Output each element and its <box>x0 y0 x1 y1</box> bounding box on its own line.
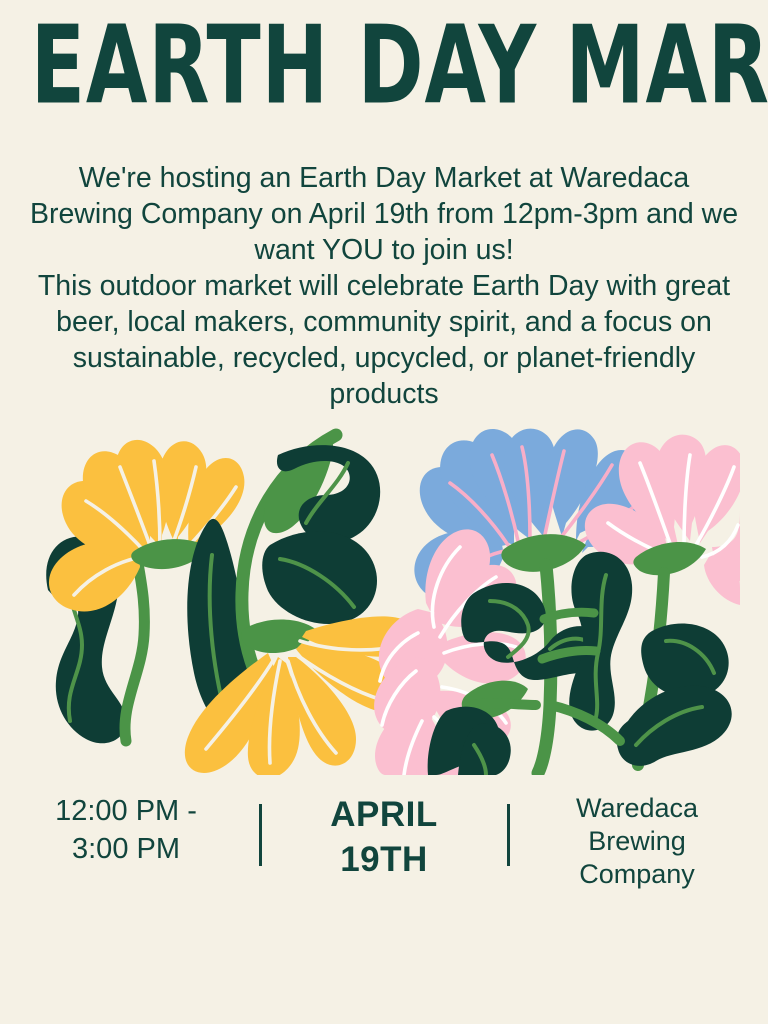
footer-date: APRIL 19TH <box>294 792 474 882</box>
page-title: EARTH DAY MARKET <box>31 12 738 120</box>
footer-venue: Waredaca Brewing Company <box>542 792 732 891</box>
floral-illustration <box>30 405 740 775</box>
body-paragraph-1: We're hosting an Earth Day Market at War… <box>24 160 744 268</box>
footer-time: 12:00 PM - 3:00 PM <box>26 792 226 868</box>
footer-divider-2 <box>507 804 510 866</box>
footer-divider-1 <box>259 804 262 866</box>
footer: 12:00 PM - 3:00 PM APRIL 19TH Waredaca B… <box>20 792 748 902</box>
poster: EARTH DAY MARKET We're hosting an Earth … <box>0 0 768 1024</box>
body-copy: We're hosting an Earth Day Market at War… <box>24 160 744 412</box>
body-paragraph-2: This outdoor market will celebrate Earth… <box>24 268 744 412</box>
